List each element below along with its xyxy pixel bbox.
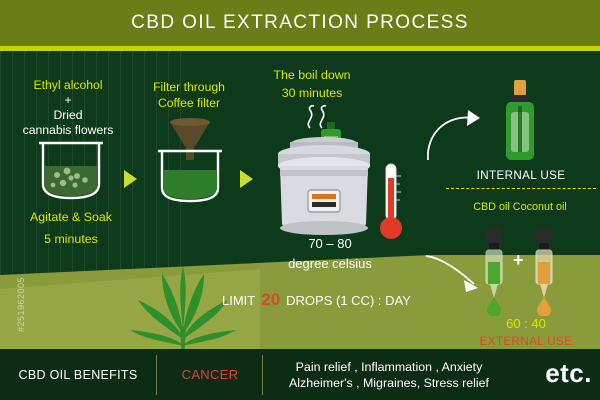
limit-prefix: LIMIT <box>222 293 255 308</box>
oil-drop-green-icon <box>486 296 502 316</box>
plus-sign: + <box>513 250 524 271</box>
step1-label-line4: cannabis flowers <box>8 123 128 138</box>
step1-label-line3: Dried <box>8 108 128 123</box>
rice-cooker-icon <box>272 128 376 238</box>
footer-etc-label: etc. <box>545 358 592 389</box>
step1-bottom-line2: 5 minutes <box>8 232 134 247</box>
limit-note: LIMIT 20 DROPS (1 CC) : DAY <box>222 290 442 310</box>
internal-external-divider <box>446 188 596 189</box>
infographic-root: CBD OIL EXTRACTION PROCESS Ethyl alcohol… <box>0 0 600 400</box>
step2-label-line1: Filter through <box>134 80 244 95</box>
step1-bottom-line1: Agitate & Soak <box>8 210 134 225</box>
external-ratio: 60 : 40 <box>456 316 596 331</box>
footer-divider-2 <box>262 355 263 395</box>
arrow-step1-to-step2 <box>124 170 137 188</box>
step1-label-line2: + <box>8 93 128 108</box>
dropper-pipette-green-icon <box>480 228 508 300</box>
footer-uses: Pain relief , Inflammation , Anxiety Alz… <box>264 349 514 400</box>
arrow-step2-to-step3 <box>240 170 253 188</box>
dropper-bottle-icon <box>500 80 540 164</box>
footer-cancer-label: CANCER <box>158 349 262 400</box>
footer-benefits-label: CBD OIL BENEFITS <box>0 349 156 400</box>
footer-uses-line2: Alzheimer's , Migraines, Stress relief <box>289 375 489 391</box>
step3-bottom-line1: 70 – 80 <box>260 236 400 251</box>
oil-drop-amber-icon <box>536 296 552 316</box>
external-use-label: EXTERNAL USE <box>456 334 596 349</box>
header-bar: CBD OIL EXTRACTION PROCESS <box>0 0 600 46</box>
arrow-to-external-use <box>424 252 484 294</box>
step3-label-line1: The boil down <box>244 68 380 83</box>
footer-divider-1 <box>156 355 157 395</box>
watermark-id: #251962005 <box>16 222 26 332</box>
funnel-beaker-icon <box>148 118 232 204</box>
footer-uses-line1: Pain relief , Inflammation , Anxiety <box>296 359 483 375</box>
footer-bar: CBD OIL BENEFITS CANCER Pain relief , In… <box>0 349 600 400</box>
internal-use-label: INTERNAL USE <box>446 168 596 183</box>
thermometer-icon <box>378 162 404 246</box>
step3-label-line2: 30 minutes <box>244 86 380 101</box>
arrow-to-internal-use <box>424 104 490 166</box>
limit-amount: 20 <box>261 290 280 310</box>
external-mix-label: CBD oil Coconut oil <box>440 200 600 215</box>
step3-bottom-line2: degree celsius <box>260 256 400 271</box>
beaker-icon <box>35 140 107 202</box>
step2-label-line2: Coffee filter <box>134 96 244 111</box>
step1-label-line1: Ethyl alcohol <box>8 78 128 93</box>
page-title: CBD OIL EXTRACTION PROCESS <box>131 12 469 34</box>
dropper-pipette-amber-icon <box>530 228 558 300</box>
limit-suffix: DROPS (1 CC) : DAY <box>286 293 411 308</box>
